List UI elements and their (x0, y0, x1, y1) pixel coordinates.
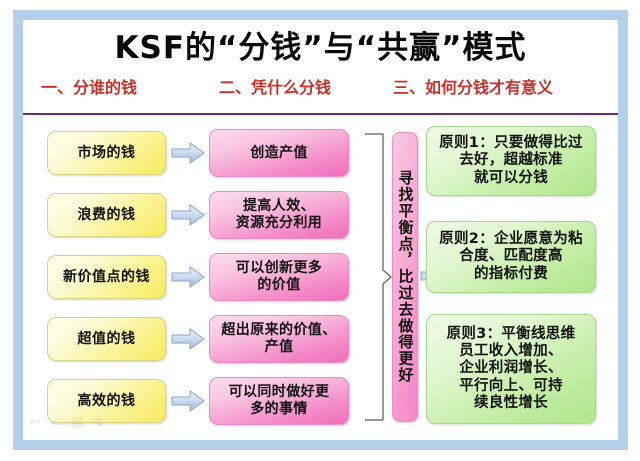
balance-box-label: 寻找平衡点，比过去做得更好 (398, 170, 413, 383)
subtitle-section-1: 一、分谁的钱 (41, 75, 137, 101)
subtitle-section-3: 三、如何分钱才有意义 (393, 75, 553, 101)
value-box-3[interactable]: 可以创新更多 的价值 (209, 253, 349, 301)
subtitle-row: 一、分谁的钱 二、凭什么分钱 三、如何分钱才有意义 (23, 75, 618, 105)
subtitle-section-2: 二、凭什么分钱 (219, 75, 331, 101)
money-box-2[interactable]: 浪费的钱 (47, 193, 166, 237)
arrow-right-icon-1 (171, 141, 205, 165)
balance-box[interactable]: 寻找平衡点，比过去做得更好 (392, 132, 418, 422)
curly-bracket-icon (363, 132, 393, 422)
arrow-right-icon-5 (171, 389, 205, 413)
value-box-5[interactable]: 可以同时做好更 多的事情 (209, 377, 349, 425)
money-box-5[interactable]: 高效的钱 (47, 379, 166, 423)
money-box-1[interactable]: 市场的钱 (47, 131, 166, 175)
arrow-right-icon-4 (171, 327, 205, 351)
money-box-3[interactable]: 新价值点的钱 (47, 255, 166, 299)
slide-canvas: KSF的“分钱”与“共赢”模式 一、分谁的钱 二、凭什么分钱 三、如何分钱才有意… (0, 0, 640, 461)
principle-box-2[interactable]: 原则2：企业愿意为粘 合度、匹配度高 的指标付费 (426, 221, 596, 293)
principle-box-1[interactable]: 原则1：只要做得比过 去好，超越标准 就可以分钱 (426, 126, 596, 196)
value-box-2[interactable]: 提高人效、 资源充分利用 (209, 191, 349, 239)
value-box-1[interactable]: 创造产值 (209, 129, 349, 177)
arrow-right-icon-2 (171, 203, 205, 227)
page-title: KSF的“分钱”与“共赢”模式 (23, 26, 618, 70)
value-box-4[interactable]: 超出原来的价值、 产值 (209, 315, 349, 363)
principle-box-3[interactable]: 原则3：平衡线思维 员工收入增加、 企业利润增长、 平行向上、可持 续良性增长 (426, 314, 596, 424)
header-divider (23, 113, 618, 115)
slide-header: KSF的“分钱”与“共赢”模式 一、分谁的钱 二、凭什么分钱 三、如何分钱才有意… (23, 20, 618, 113)
watermark-glyph-1: ↩ (29, 413, 41, 431)
money-box-4[interactable]: 超值的钱 (47, 317, 166, 361)
arrow-right-icon-3 (171, 265, 205, 289)
diagram-body: 市场的钱 浪费的钱 新价值点的钱 超值的钱 高效的钱 创造产值 提高人效、 资源… (23, 116, 618, 440)
